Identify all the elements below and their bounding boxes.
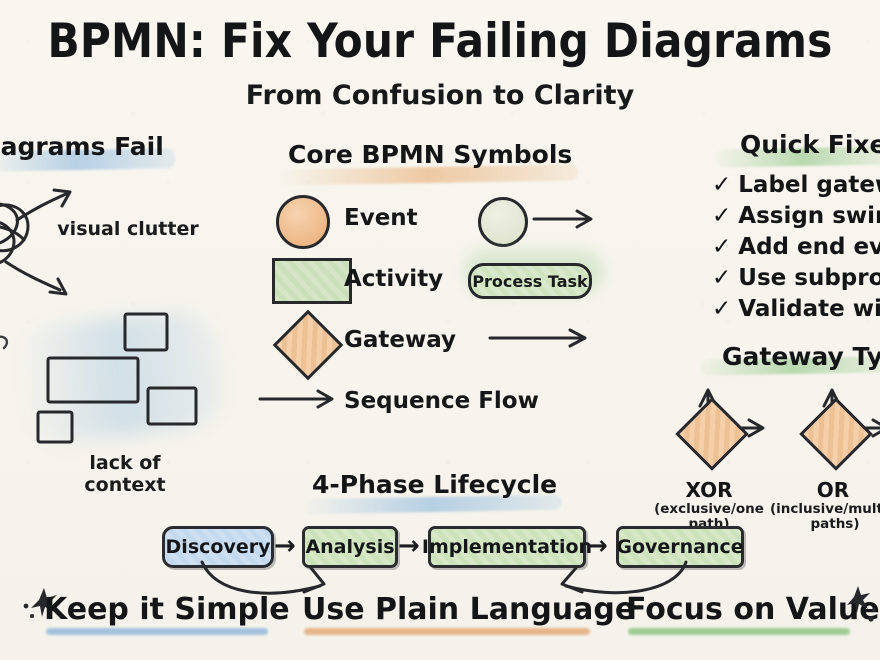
note-lack-of-context-line1: lack of <box>50 453 200 475</box>
quickfix-item-0: ✓Label gateways <box>712 172 880 198</box>
quickfix-item-3: ✓Use subprocesse <box>712 265 880 291</box>
legend-label-gateway: Gateway <box>344 327 456 353</box>
note-visual-clutter: visual clutter <box>48 219 208 241</box>
quickfix-item-4: ✓Validate with st <box>712 296 880 322</box>
visual-clutter-scribble-icon <box>0 178 112 308</box>
lifecycle-arrow-2: → <box>586 531 608 561</box>
quickfix-item-1: ✓Assign swimlane <box>712 203 880 229</box>
symbols-section-heading: Core BPMN Symbols <box>288 140 572 169</box>
example-start-event-icon <box>478 197 528 247</box>
quickfix-label-2: Add end events <box>738 234 880 260</box>
quickfix-label-0: Label gateways <box>738 172 880 198</box>
footer-underline-2 <box>628 628 850 635</box>
gateway-or-desc-line2: paths) <box>770 517 880 532</box>
check-icon: ✓ <box>712 265 731 291</box>
check-icon: ✓ <box>712 234 731 260</box>
footer-item-focus-on-value: Focus on Value <box>626 592 880 627</box>
check-icon: ✓ <box>712 203 731 229</box>
gateway-or-label: OR <box>778 478 880 502</box>
footer-item-use-plain-language: Use Plain Language <box>302 592 635 627</box>
gateway-or-desc: (inclusive/multiple paths) <box>770 502 880 532</box>
legend-shape-sequence-flow-icon <box>258 388 344 410</box>
legend-label-sequence-flow: Sequence Flow <box>344 388 539 414</box>
lifecycle-arrow-0: → <box>274 531 296 561</box>
footer-item-keep-it-simple: Keep it Simple <box>44 592 290 627</box>
note-lack-of-context: lack of context <box>50 453 200 497</box>
quickfixes-section-heading: Quick Fixe <box>740 130 880 159</box>
lifecycle-arrow-1: → <box>398 531 420 561</box>
page-subtitle: From Confusion to Clarity <box>0 80 880 111</box>
quickfix-label-3: Use subprocesse <box>738 265 880 291</box>
infographic-canvas: BPMN: Fix Your Failing Diagrams From Con… <box>0 0 880 660</box>
legend-label-event: Event <box>344 205 418 231</box>
gateways-section-heading: Gateway Ty <box>722 342 880 371</box>
page-title: BPMN: Fix Your Failing Diagrams <box>0 14 880 69</box>
legend-shape-activity-icon <box>272 258 352 304</box>
footer-underline-0 <box>46 628 268 635</box>
legend-label-activity: Activity <box>344 266 443 292</box>
check-icon: ✓ <box>712 296 731 322</box>
note-lack-of-context-line2: context <box>50 475 200 497</box>
quickfix-item-2: ✓Add end events <box>712 234 880 260</box>
legend-shape-gateway-icon <box>273 310 344 381</box>
check-icon: ✓ <box>712 172 731 198</box>
legend-shape-event-icon <box>276 195 330 249</box>
example-start-event-arrow-icon <box>532 208 602 230</box>
scattered-boxes-icon <box>0 300 220 460</box>
lifecycle-section-heading: 4-Phase Lifecycle <box>312 470 557 499</box>
quickfix-label-4: Validate with st <box>738 296 880 322</box>
footer-underline-1 <box>304 628 590 635</box>
example-process-task-pill: Process Task <box>468 263 592 299</box>
example-gateway-arrow-icon <box>488 327 598 349</box>
quickfix-label-1: Assign swimlane <box>738 203 880 229</box>
left-section-heading: iagrams Fail <box>0 132 164 161</box>
sparkle-right-icon <box>846 584 880 624</box>
gateway-xor-label: XOR <box>654 478 764 502</box>
gateway-or-desc-line1: (inclusive/multiple <box>770 502 880 517</box>
